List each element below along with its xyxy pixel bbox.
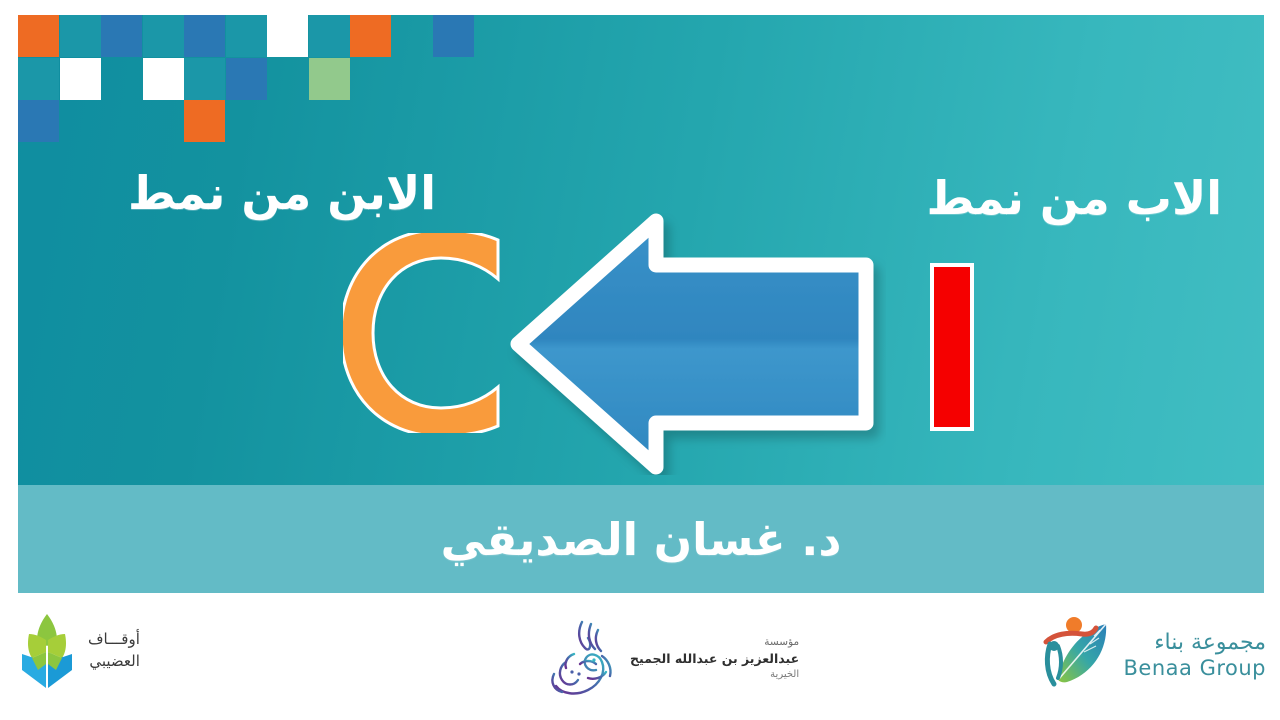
logo-benaa-arabic: مجموعة بناء: [1124, 629, 1266, 657]
logo-jumaih-line2: عبدالعزيز بن عبدالله الجميح: [630, 650, 799, 668]
logo-jumaih-line3: الخيرية: [630, 668, 799, 683]
presenter-name: د. غسان الصديقي: [18, 485, 1264, 593]
mosaic-pattern: [18, 15, 498, 145]
glyph-letter-c: [343, 233, 503, 433]
heading-son-type: الابن من نمط: [128, 170, 436, 216]
logo-benaa-english: Benaa Group: [1124, 656, 1266, 681]
logo-jumaih-foundation[interactable]: مؤسسة عبدالعزيز بن عبدالله الجميح الخيري…: [536, 616, 799, 702]
logo-awqaf-line2: العضيبي: [88, 651, 140, 673]
logo-jumaih-line1: مؤسسة: [630, 635, 799, 650]
mosaic-cell: [18, 58, 59, 100]
mosaic-cell: [226, 58, 267, 100]
slide-root: الاب من نمط الابن من نمط: [0, 0, 1280, 720]
logo-awqaf[interactable]: أوقـــاف العضيبي: [18, 612, 140, 690]
mosaic-cell: [309, 58, 350, 100]
logo-benaa-text: مجموعة بناء Benaa Group: [1124, 629, 1266, 682]
mosaic-cell: [143, 58, 184, 100]
mosaic-cell: [184, 58, 225, 100]
mosaic-cell: [143, 15, 184, 57]
mosaic-cell: [184, 15, 225, 57]
calligraphy-monogram-icon: [536, 616, 622, 702]
wheat-leaf-icon: [18, 612, 76, 690]
mosaic-cell: [267, 15, 308, 57]
logo-awqaf-line1: أوقـــاف: [88, 629, 140, 651]
logo-jumaih-text: مؤسسة عبدالعزيز بن عبدالله الجميح الخيري…: [630, 635, 799, 683]
mosaic-cell: [101, 15, 142, 57]
glyph-letter-alif: [930, 263, 974, 431]
left-arrow-icon: [506, 213, 886, 475]
mosaic-cell: [350, 15, 391, 57]
footer-logos: أوقـــاف العضيبي مؤسسة عبدالعزيز بن ع: [0, 596, 1280, 720]
mosaic-cell: [309, 15, 350, 57]
logo-awqaf-text: أوقـــاف العضيبي: [88, 629, 140, 673]
mosaic-cell: [60, 58, 101, 100]
mosaic-cell: [18, 15, 59, 57]
mosaic-cell: [60, 15, 101, 57]
presenter-band: د. غسان الصديقي: [18, 485, 1264, 593]
person-leaf-icon: [1036, 612, 1118, 698]
heading-father-type: الاب من نمط: [926, 175, 1222, 221]
mosaic-cell: [184, 100, 225, 142]
logo-benaa-group[interactable]: مجموعة بناء Benaa Group: [1036, 612, 1266, 698]
mosaic-cell: [18, 100, 59, 142]
mosaic-cell: [433, 15, 474, 57]
mosaic-cell: [226, 15, 267, 57]
